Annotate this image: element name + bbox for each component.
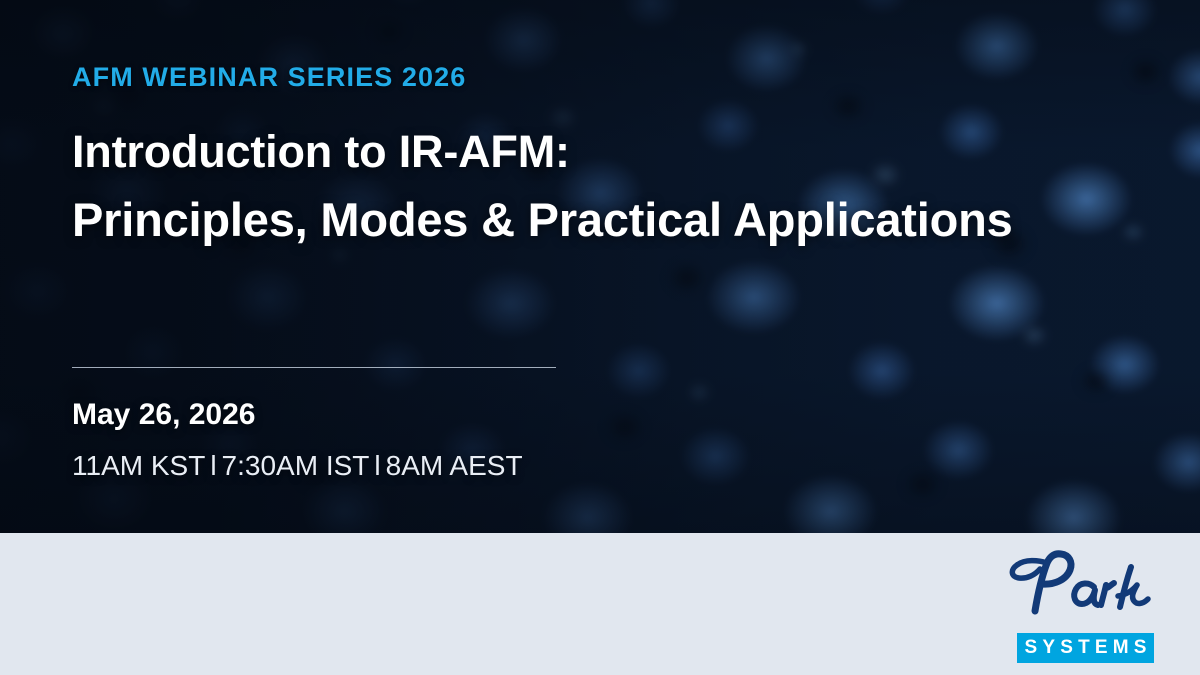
timezone-aest: 8AM AEST [386, 450, 523, 481]
timezone-kst: 11AM KST [72, 450, 205, 481]
webinar-title-line-1: Introduction to IR-AFM: [72, 118, 1142, 186]
webinar-times: 11AM KSTl7:30AM ISTl8AM AEST [72, 450, 523, 482]
time-separator-1: l [205, 450, 221, 482]
webinar-date: May 26, 2026 [72, 398, 255, 432]
park-script-wordmark-icon [997, 549, 1157, 621]
systems-logo-label: SYSTEMS [1017, 633, 1154, 663]
webinar-banner: AFM WEBINAR SERIES 2026 Introduction to … [0, 0, 1200, 675]
series-eyebrow-label: AFM WEBINAR SERIES 2026 [72, 62, 466, 93]
footer-bar: SYSTEMS [0, 533, 1200, 675]
hero-section: AFM WEBINAR SERIES 2026 Introduction to … [0, 0, 1200, 533]
park-systems-logo: SYSTEMS [997, 549, 1157, 661]
webinar-title: Introduction to IR-AFM: Principles, Mode… [72, 118, 1142, 254]
horizontal-divider-rule [72, 367, 556, 368]
timezone-ist: 7:30AM IST [222, 450, 370, 481]
hero-content: AFM WEBINAR SERIES 2026 Introduction to … [72, 0, 1132, 533]
time-separator-2: l [369, 450, 385, 482]
webinar-title-line-2: Principles, Modes & Practical Applicatio… [72, 186, 1142, 254]
